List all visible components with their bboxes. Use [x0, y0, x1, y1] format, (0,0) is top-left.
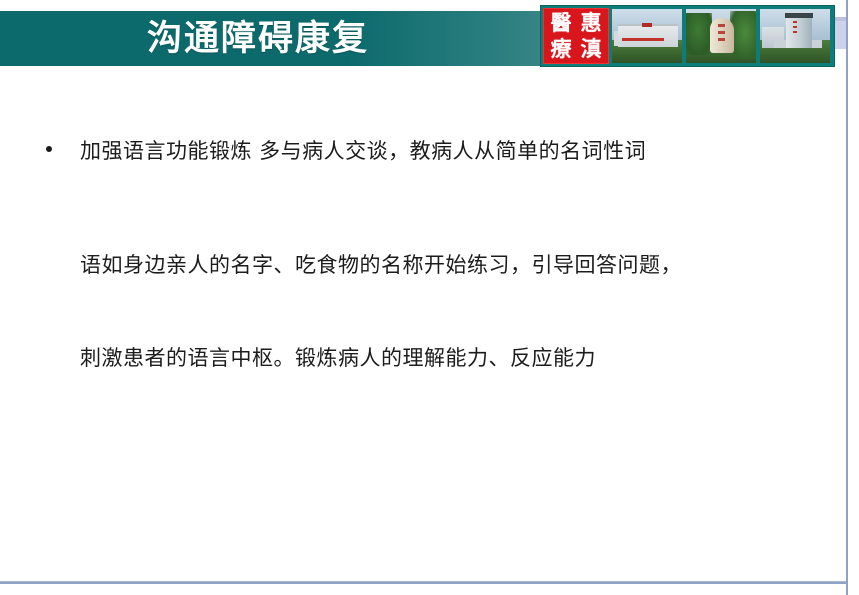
body-line-2: 语如身边亲人的名字、吃食物的名称开始练习，引导回答问题， [80, 219, 819, 312]
photo-building-signage [622, 38, 664, 41]
right-gutter [848, 0, 859, 595]
presentation-slide: 沟通障碍康复 醫 惠 療 滇 [0, 0, 859, 595]
body-line-1: 加强语言功能锻炼 多与病人交谈，教病人从简单的名词性词 [80, 126, 819, 219]
body-line-3: 刺激患者的语言中枢。锻炼病人的理解能力、反应能力 [80, 312, 819, 405]
slide-body: 加强语言功能锻炼 多与病人交谈，教病人从简单的名词性词 语如身边亲人的名字、吃食… [0, 126, 859, 405]
photo-stone-inscription [718, 24, 725, 45]
slide-title: 沟通障碍康复 [147, 12, 369, 65]
hospital-seal-logo: 醫 惠 療 滇 [543, 8, 609, 64]
hospital-photo-main-building [611, 8, 683, 64]
bottom-rule [0, 581, 847, 584]
photo-tree-right [730, 11, 757, 59]
seal-character-2: 惠 [576, 10, 606, 36]
hospital-photo-stone-monument [685, 8, 757, 64]
photo-tower-cap [785, 13, 813, 18]
seal-character-1: 醫 [546, 10, 576, 36]
photo-tower [786, 14, 812, 47]
photo-tree-left [685, 13, 712, 55]
photo-building-main [618, 24, 678, 47]
bullet-point-icon [46, 146, 52, 152]
photo-tower-signage [793, 21, 797, 33]
seal-character-4: 滇 [576, 36, 606, 62]
bullet-item: 加强语言功能锻炼 多与病人交谈，教病人从简单的名词性词 语如身边亲人的名字、吃食… [0, 126, 859, 405]
photo-roof-logo [642, 23, 652, 27]
logo-strip: 醫 惠 療 滇 [540, 5, 835, 67]
hospital-photo-tower [759, 8, 831, 64]
seal-character-3: 療 [546, 36, 576, 62]
